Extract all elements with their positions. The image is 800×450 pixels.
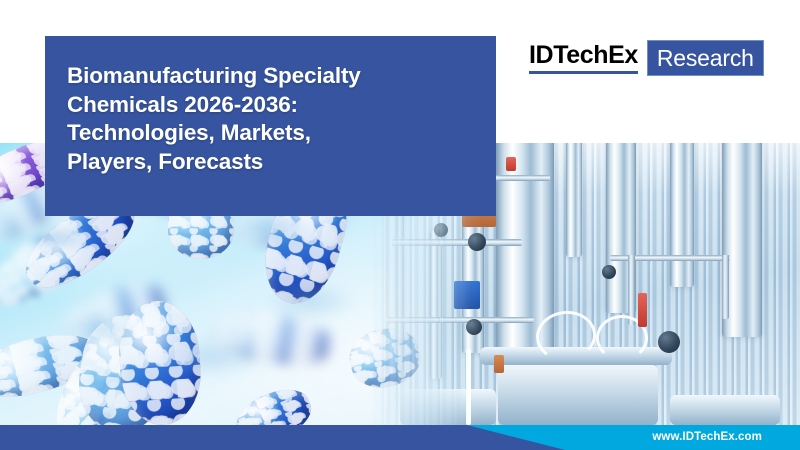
germ-shape	[207, 305, 337, 372]
reactor-column	[670, 143, 694, 287]
report-cover-slide: Biomanufacturing Specialty Chemicals 202…	[0, 0, 800, 450]
reactor-column	[386, 197, 404, 373]
germ-shape	[42, 320, 155, 425]
logo-brand-text: IDTechEx	[529, 42, 638, 69]
reactor-pipe	[628, 255, 635, 325]
footer-bar: www.IDTechEx.com	[0, 425, 800, 450]
reactor-label	[454, 281, 480, 309]
germ-shape	[230, 380, 318, 425]
reactor-tubing	[466, 349, 471, 425]
logo-wordmark: IDTechEx	[529, 40, 647, 76]
reactor-knob	[658, 331, 680, 353]
reactor-pipe	[722, 255, 729, 319]
reactor-knob	[602, 265, 616, 279]
footer-website-url[interactable]: www.IDTechEx.com	[652, 425, 762, 450]
reactor-pipe	[384, 317, 534, 323]
reactor-base	[670, 395, 780, 425]
reactor-knob	[468, 233, 486, 251]
reactor-knob	[434, 223, 448, 237]
germ-shape	[116, 298, 204, 425]
germ-shape	[74, 311, 172, 425]
footer-diagonal-wedge	[0, 425, 565, 450]
logo-underline-rule	[529, 71, 638, 74]
reactor-indicator	[506, 157, 516, 171]
idtechex-logo[interactable]: IDTechEx Research	[529, 40, 764, 76]
logo-research-badge: Research	[647, 40, 764, 76]
reactor-column	[430, 231, 442, 379]
reactor-body	[498, 365, 658, 425]
reactor-column	[566, 143, 582, 257]
reactor-pipe	[392, 239, 522, 246]
title-panel: Biomanufacturing Specialty Chemicals 202…	[45, 36, 496, 216]
reactor-valve-handle	[638, 293, 647, 327]
reactor-label	[494, 355, 504, 373]
report-title: Biomanufacturing Specialty Chemicals 202…	[67, 62, 468, 176]
reactor-knob	[466, 319, 482, 335]
logo-badge-text: Research	[657, 46, 754, 71]
germ-shape	[0, 210, 104, 319]
germ-shape	[0, 324, 103, 407]
reactor-base	[400, 389, 496, 425]
germ-shape	[56, 273, 175, 351]
